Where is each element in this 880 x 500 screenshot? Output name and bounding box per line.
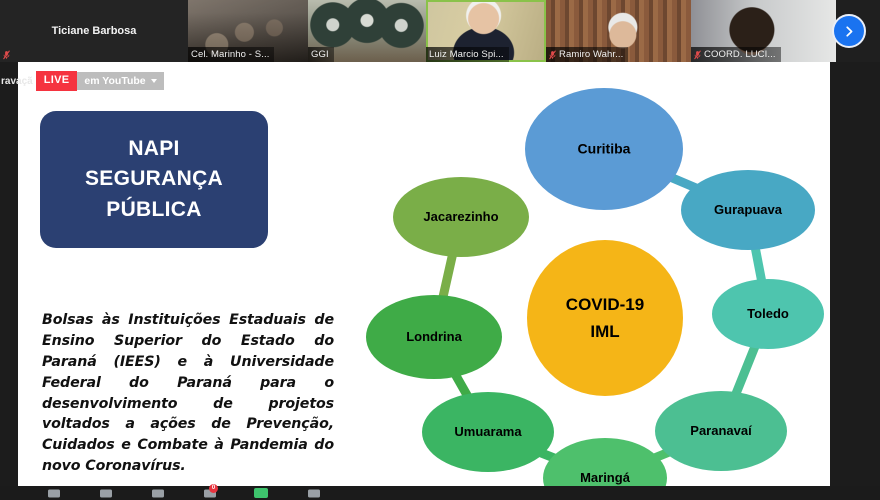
participant-tile[interactable]: Luiz Marcio Spi... (426, 0, 546, 62)
chevron-right-icon (843, 25, 856, 38)
diagram-node (712, 279, 824, 349)
participant-name: Cel. Marinho - S... (191, 49, 269, 60)
zoom-meeting-window: Ticiane BarbosaCel. Marinho - S...GGILui… (0, 0, 880, 500)
live-stream-chip[interactable]: LIVE em YouTube (36, 71, 164, 91)
diagram-node (422, 392, 554, 472)
share-screen-button[interactable] (254, 488, 270, 499)
participant-tile[interactable]: Ramiro Wahr... (546, 0, 691, 62)
live-source-label: em YouTube (84, 75, 145, 88)
participant-name: Ticiane Barbosa (0, 0, 188, 62)
diagram-node (681, 170, 815, 250)
participant-name: COORD. LUCI... (704, 49, 776, 60)
napi-title-box: NAPI SEGURANÇA PÚBLICA (40, 111, 268, 248)
live-badge: LIVE (36, 71, 78, 90)
napi-title-line-1: NAPI (128, 135, 179, 163)
diagram-node (393, 177, 529, 257)
participant-name: GGI (311, 49, 329, 60)
diagram-canvas (348, 62, 830, 486)
diagram-node (543, 438, 667, 486)
camera-icon (98, 488, 114, 499)
live-source-dropdown[interactable]: em YouTube (77, 72, 163, 91)
diagram-node (655, 391, 787, 471)
participant-name-bar: GGI (308, 47, 334, 62)
participant-tile[interactable]: COORD. LUCI... (691, 0, 836, 62)
participant-tile[interactable]: GGI (308, 0, 426, 62)
chevron-down-icon (151, 79, 157, 83)
participant-filmstrip: Ticiane BarbosaCel. Marinho - S...GGILui… (0, 0, 880, 62)
diagram-node (366, 295, 502, 379)
meeting-toolbar: 0 (0, 486, 880, 500)
more-options-button[interactable] (306, 488, 322, 499)
next-participants-button[interactable] (832, 14, 866, 48)
napi-title-line-3: PÚBLICA (106, 196, 201, 224)
slide-body-text: Bolsas às Instituições Estaduais de Ensi… (42, 310, 334, 477)
muted-microphone-icon (3, 50, 10, 60)
participant-name-bar: Cel. Marinho - S... (188, 47, 274, 62)
diagram-node (525, 88, 683, 210)
recording-status-strip: ravaçã LIVE em YouTube (0, 70, 164, 92)
participant-name-bar: COORD. LUCI... (691, 47, 781, 62)
camera-button[interactable] (98, 488, 114, 499)
napi-title-line-2: SEGURANÇA (85, 165, 223, 193)
participant-name-bar: Ramiro Wahr... (546, 47, 628, 62)
shared-slide: NAPI SEGURANÇA PÚBLICA Bolsas às Institu… (18, 62, 830, 486)
more-options-icon (306, 488, 322, 499)
participant-name-bar (0, 47, 15, 62)
microphone-button[interactable] (46, 488, 62, 499)
participants-icon (150, 488, 166, 499)
recording-label: ravaçã (0, 76, 36, 87)
participants-button[interactable] (150, 488, 166, 499)
muted-microphone-icon (549, 50, 556, 60)
muted-microphone-icon (694, 50, 701, 60)
chat-button[interactable]: 0 (202, 488, 218, 499)
microphone-icon (46, 488, 62, 499)
participant-name: Luiz Marcio Spi... (429, 49, 504, 60)
diagram-center-node (527, 240, 683, 396)
participant-name: Ramiro Wahr... (559, 49, 623, 60)
share-screen-icon (254, 488, 268, 498)
participant-name-bar: Luiz Marcio Spi... (426, 47, 509, 62)
participant-tile[interactable]: Ticiane Barbosa (0, 0, 188, 62)
participant-tile[interactable]: Cel. Marinho - S... (188, 0, 308, 62)
notification-badge: 0 (209, 484, 218, 493)
covid-iml-network-diagram: CuritibaGurapuavaToledoParanavaíMaringáU… (348, 62, 830, 486)
